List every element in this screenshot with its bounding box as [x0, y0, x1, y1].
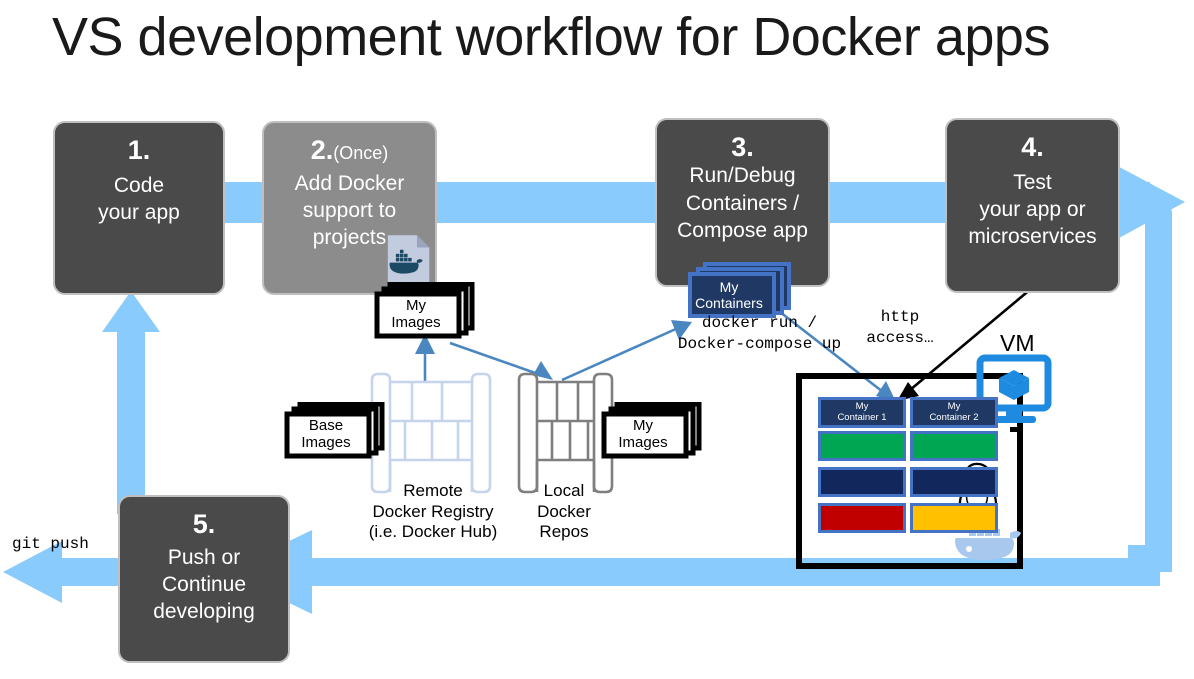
my-images-right: My Images: [601, 402, 705, 460]
step-box-2[interactable]: 2.(Once) Add Docker support to projects: [262, 121, 437, 295]
http-access-caption: http access…: [854, 307, 946, 349]
vm-container-2-layer-yellow: [910, 503, 998, 533]
remote-registry-caption: Remote Docker Registry (i.e. Docker Hub): [333, 481, 533, 543]
step-5-number: 5.: [193, 509, 216, 539]
vm-container-2-header: My Container 2: [910, 397, 998, 428]
git-push-caption: git push: [12, 534, 122, 555]
remote-registry-shelf-icon: [372, 374, 490, 492]
vm-container-1: My Container 1: [818, 397, 908, 542]
vm-container-2-layer-navy: [910, 467, 998, 497]
docker-file-icon: [384, 233, 432, 289]
step-4-number: 4.: [1021, 132, 1044, 162]
my-images-top-label: My Images: [364, 285, 468, 343]
step-box-1[interactable]: 1. Code your app: [53, 121, 225, 295]
step-5-body: Push or Continue developing: [153, 545, 255, 626]
base-images-label: Base Images: [274, 405, 378, 463]
local-repos-caption: Local Docker Repos: [510, 481, 618, 543]
vm-container-1-layer-green: [818, 431, 906, 461]
my-images-right-label: My Images: [591, 405, 695, 463]
step-3-body: Run/Debug Containers / Compose app: [677, 162, 808, 244]
step-1-body: Code your app: [98, 173, 180, 227]
step-2-num-text: 2.: [311, 135, 334, 165]
step-2-number: 2.(Once): [311, 135, 389, 165]
vm-container-1-layer-navy: [818, 467, 906, 497]
ribbon-up-to-code: [102, 291, 160, 514]
my-containers-box: My Containers: [687, 262, 797, 320]
my-images-top: My Images: [374, 282, 478, 340]
step-4-body: Test your app or microservices: [968, 170, 1096, 251]
vm-container-2-layer-green: [910, 431, 998, 461]
docker-run-caption: docker run / Docker-compose up: [652, 313, 867, 355]
step-2-once-label: (Once): [333, 143, 388, 163]
vm-container-2: My Container 2: [910, 397, 1000, 542]
vm-label: VM: [1000, 330, 1035, 357]
step-box-4[interactable]: 4. Test your app or microservices: [945, 118, 1120, 293]
step-3-number: 3.: [731, 132, 754, 162]
base-images-box: Base Images: [284, 402, 388, 460]
vm-container-1-layer-red: [818, 503, 906, 533]
vm-container-1-header: My Container 1: [818, 397, 906, 428]
step-1-number: 1.: [128, 135, 151, 165]
ribbon-right-down: [1128, 202, 1172, 572]
step-box-5[interactable]: 5. Push or Continue developing: [118, 495, 290, 663]
